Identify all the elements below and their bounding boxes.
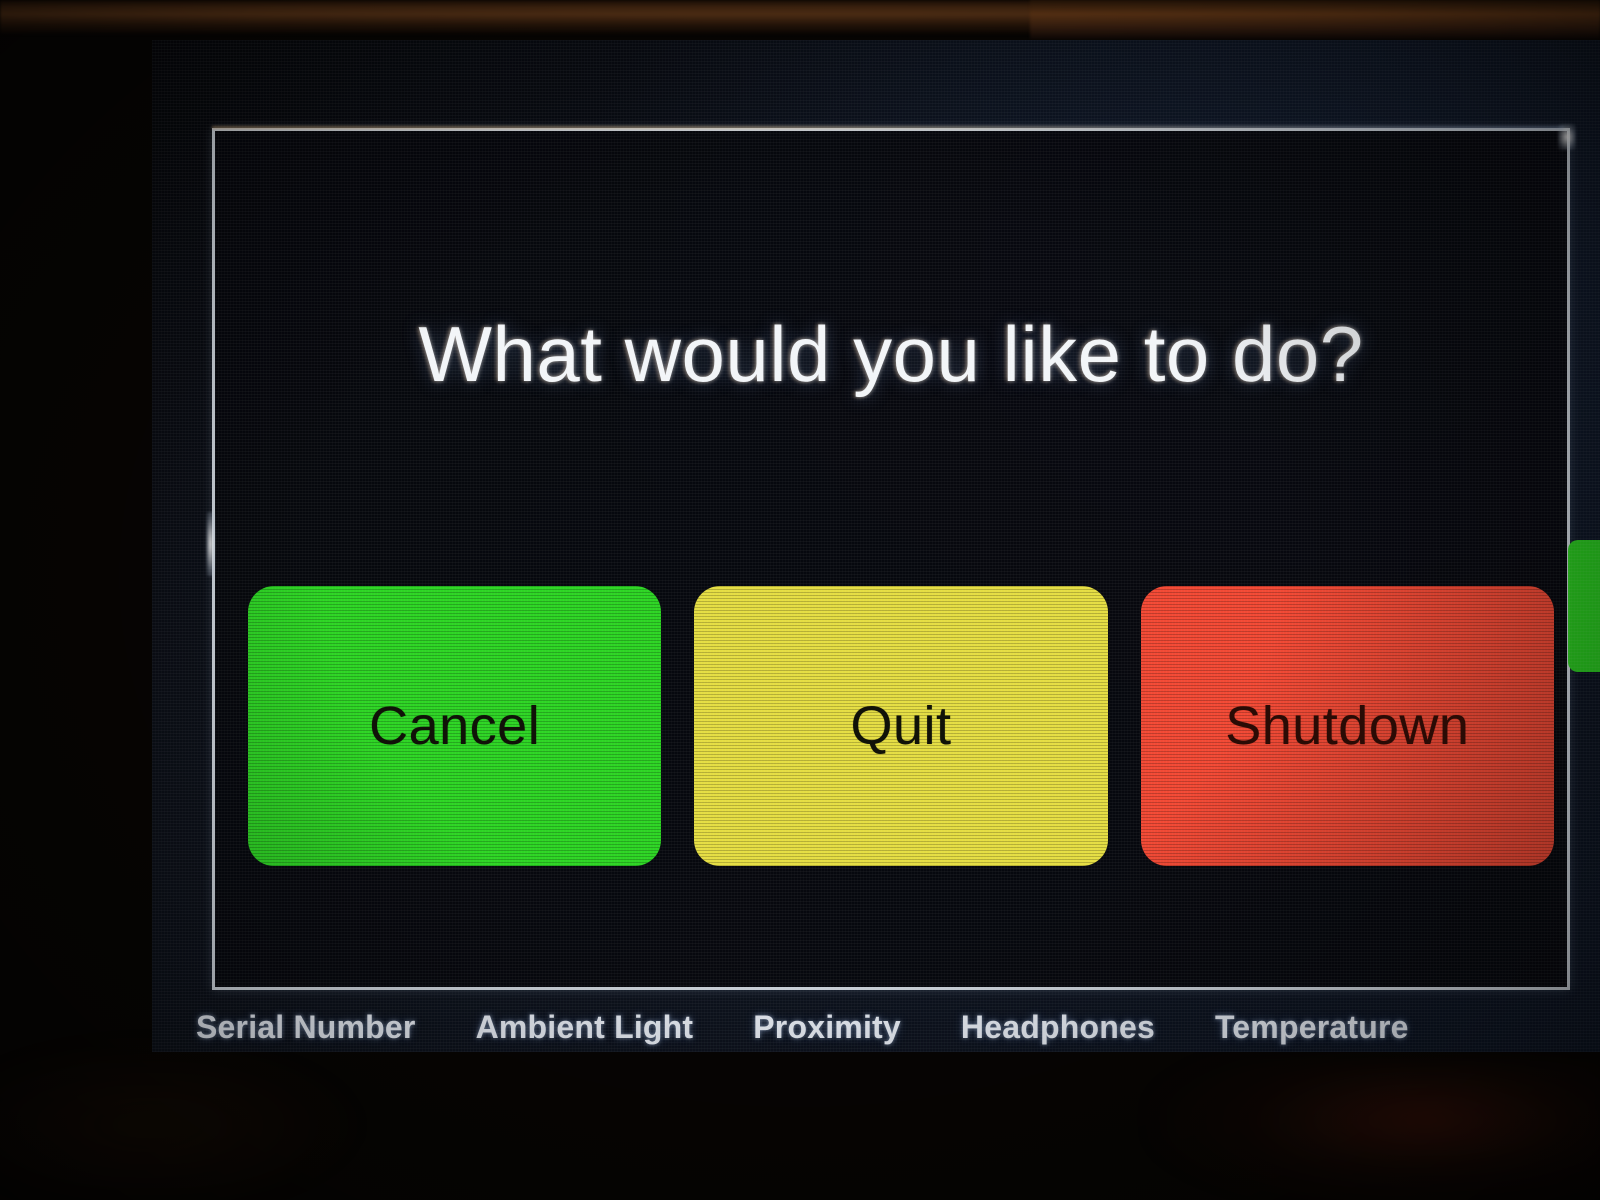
status-item-headphones[interactable]: Headphones xyxy=(961,1009,1155,1046)
quit-button-label: Quit xyxy=(850,695,951,757)
status-item-proximity[interactable]: Proximity xyxy=(753,1009,901,1046)
offscreen-green-control[interactable] xyxy=(1568,540,1600,672)
status-item-temperature[interactable]: Temperature xyxy=(1215,1009,1409,1046)
photographed-screen: What would you like to do? Cancel Quit S… xyxy=(0,0,1600,1200)
shutdown-button-label: Shutdown xyxy=(1225,695,1469,757)
room-glow-left xyxy=(0,1040,360,1200)
room-background-top-right xyxy=(1030,0,1600,40)
sensor-status-bar: Serial Number Ambient Light Proximity He… xyxy=(152,1002,1600,1052)
room-glow-right xyxy=(1150,1060,1600,1200)
dialog-title: What would you like to do? xyxy=(215,309,1567,400)
quit-button[interactable]: Quit xyxy=(694,586,1107,866)
action-dialog: What would you like to do? Cancel Quit S… xyxy=(212,128,1570,990)
cancel-button-label: Cancel xyxy=(369,695,540,757)
status-item-serial-number[interactable]: Serial Number xyxy=(196,1009,416,1046)
dialog-button-row: Cancel Quit Shutdown xyxy=(248,586,1548,866)
device-screen: What would you like to do? Cancel Quit S… xyxy=(152,40,1600,1052)
status-item-ambient-light[interactable]: Ambient Light xyxy=(476,1009,694,1046)
shutdown-button[interactable]: Shutdown xyxy=(1141,586,1554,866)
cancel-button[interactable]: Cancel xyxy=(248,586,661,866)
